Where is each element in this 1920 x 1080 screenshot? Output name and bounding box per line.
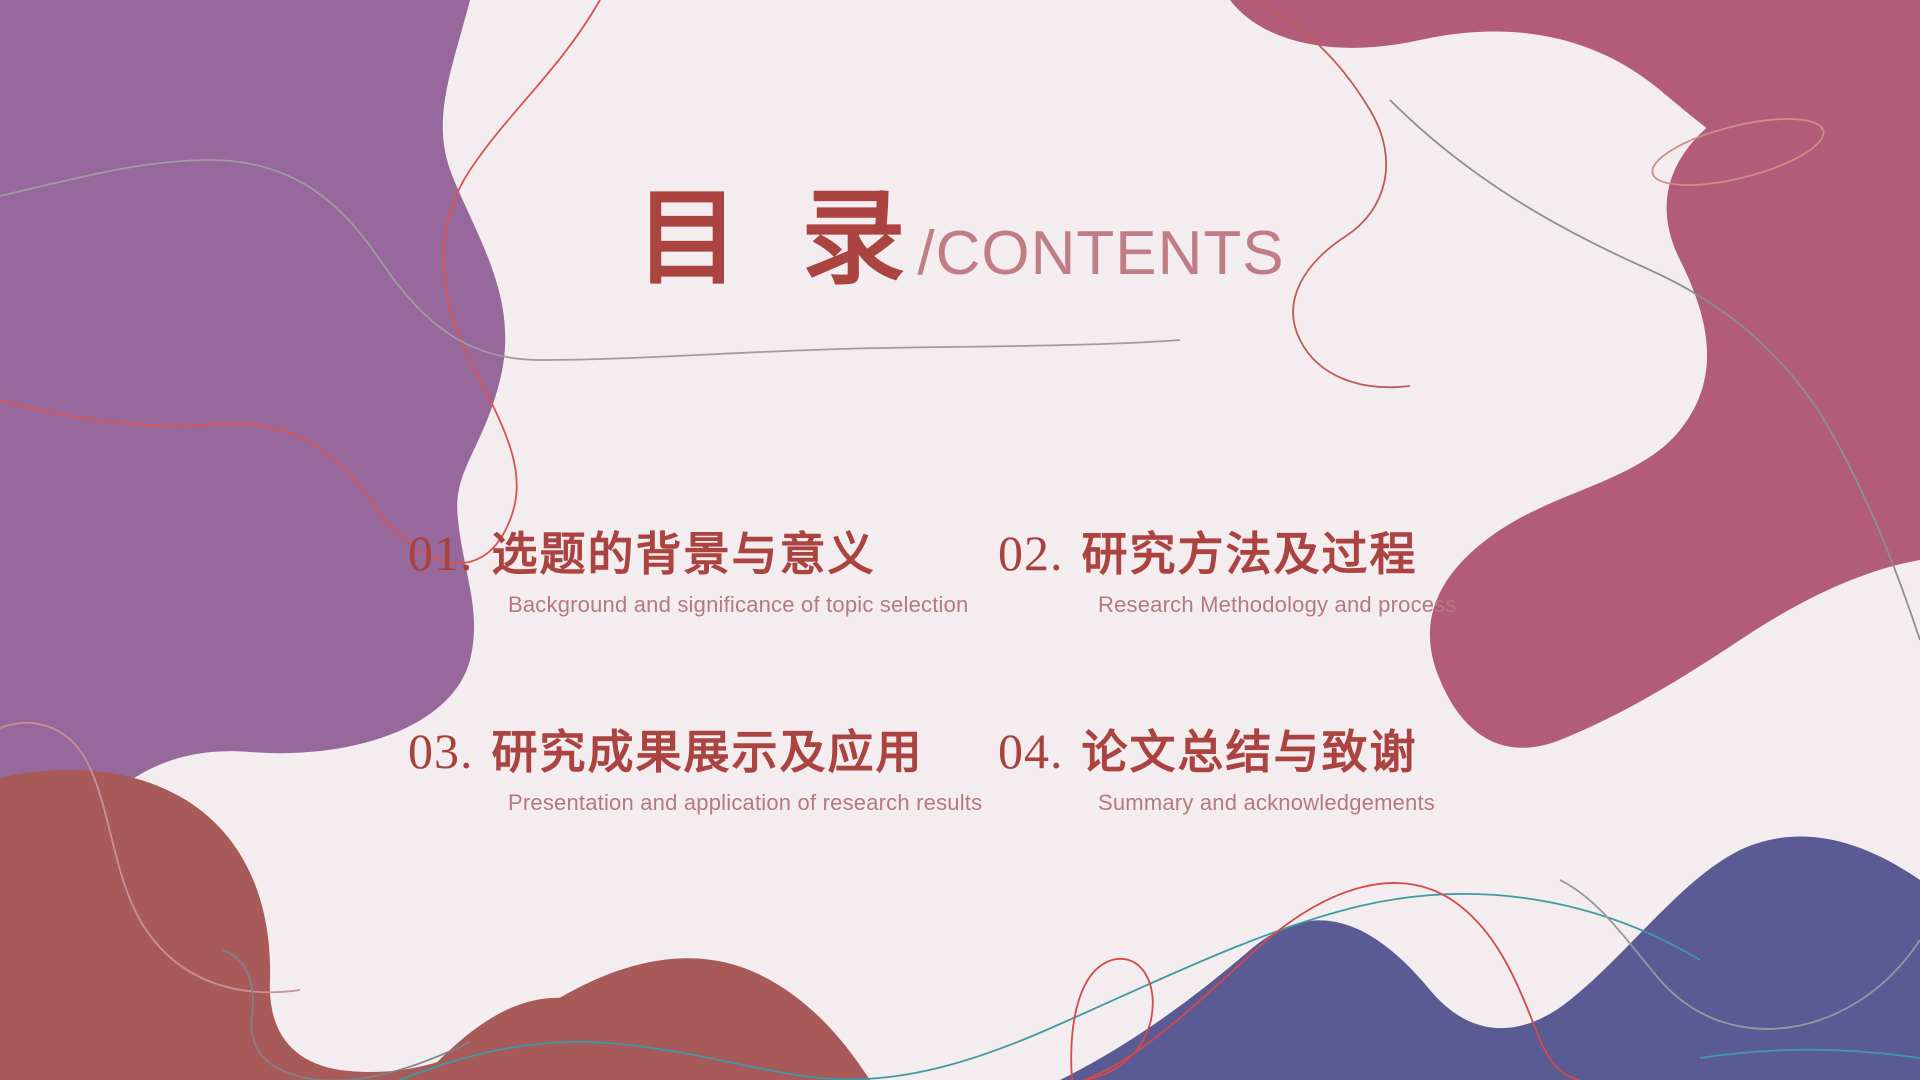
toc-item-title-chinese: 研究成果展示及应用 xyxy=(492,730,924,776)
toc-item-number: 02. xyxy=(998,528,1064,578)
toc-item-title-chinese: 研究方法及过程 xyxy=(1082,532,1418,578)
toc-item-heading: 02. 研究方法及过程 xyxy=(998,528,1588,578)
toc-item-subtitle-english: Summary and acknowledgements xyxy=(1098,790,1588,816)
toc-row: 03. 研究成果展示及应用 Presentation and applicati… xyxy=(408,726,1588,816)
toc-item-subtitle-english: Research Methodology and process xyxy=(1098,592,1588,618)
page-title: 目 录/CONTENTS xyxy=(0,188,1920,292)
toc-item-heading: 04. 论文总结与致谢 xyxy=(998,726,1588,776)
toc-item-02[interactable]: 02. 研究方法及过程 Research Methodology and pro… xyxy=(998,528,1588,618)
page-title-chinese: 目 录 xyxy=(635,182,923,297)
page-title-english: /CONTENTS xyxy=(917,219,1284,288)
toc-item-number: 04. xyxy=(998,726,1064,776)
slide-canvas: 目 录/CONTENTS 01. 选题的背景与意义 Background and… xyxy=(0,0,1920,1080)
toc-item-subtitle-english: Background and significance of topic sel… xyxy=(508,592,998,618)
toc-item-number: 01. xyxy=(408,528,474,578)
toc-item-subtitle-english: Presentation and application of research… xyxy=(508,790,998,816)
toc-item-title-chinese: 选题的背景与意义 xyxy=(492,532,876,578)
toc-item-title-chinese: 论文总结与致谢 xyxy=(1082,730,1418,776)
toc-item-number: 03. xyxy=(408,726,474,776)
toc-item-04[interactable]: 04. 论文总结与致谢 Summary and acknowledgements xyxy=(998,726,1588,816)
toc-item-01[interactable]: 01. 选题的背景与意义 Background and significance… xyxy=(408,528,998,618)
slide-content: 目 录/CONTENTS 01. 选题的背景与意义 Background and… xyxy=(0,0,1920,1080)
toc-item-heading: 03. 研究成果展示及应用 xyxy=(408,726,998,776)
toc-item-heading: 01. 选题的背景与意义 xyxy=(408,528,998,578)
toc-row: 01. 选题的背景与意义 Background and significance… xyxy=(408,528,1588,618)
table-of-contents: 01. 选题的背景与意义 Background and significance… xyxy=(408,528,1588,816)
toc-item-03[interactable]: 03. 研究成果展示及应用 Presentation and applicati… xyxy=(408,726,998,816)
